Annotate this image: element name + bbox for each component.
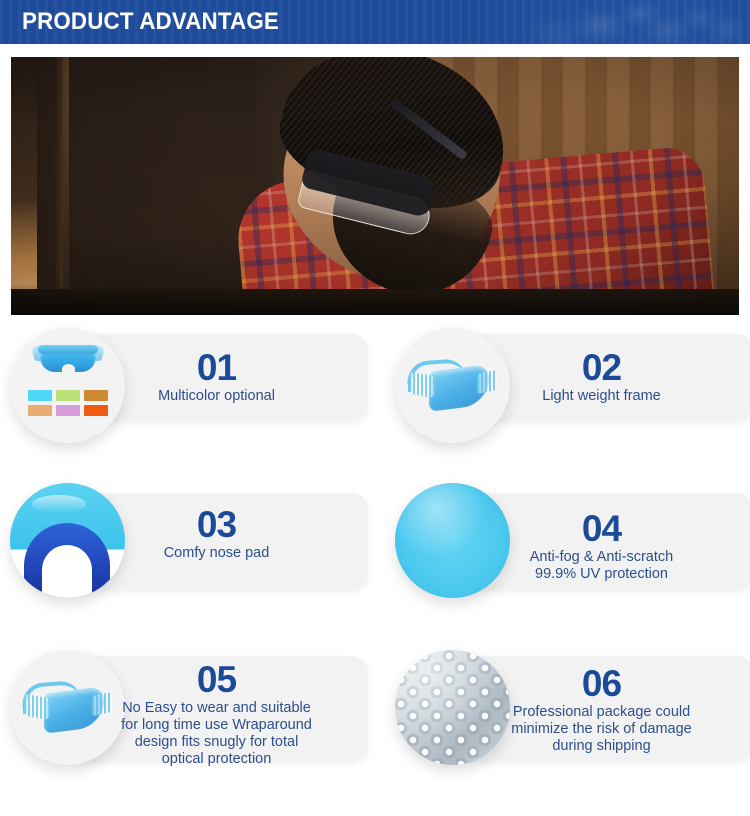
- advantages-grid: 01 Multicolor optional 02 Light weight f…: [0, 320, 750, 798]
- card-text-block: 05 No Easy to wear and suitable for long…: [50, 660, 383, 768]
- hero-image: [11, 57, 739, 315]
- color-swatch: [28, 390, 52, 401]
- advantage-caption: Anti-fog & Anti-scratch 99.9% UV protect…: [450, 549, 750, 583]
- glasses-side-vent: [24, 694, 50, 721]
- advantage-caption: Professional package could minimize the …: [435, 704, 750, 755]
- advantage-number: 04: [450, 509, 750, 549]
- card-text-block: 06 Professional package could minimize t…: [435, 664, 750, 755]
- color-swatch: [56, 405, 80, 416]
- advantage-number: 05: [50, 660, 383, 700]
- color-swatch: [28, 405, 52, 416]
- hero-vignette: [11, 57, 739, 315]
- color-swatch: [84, 405, 108, 416]
- advantage-caption: No Easy to wear and suitable for long ti…: [50, 700, 383, 768]
- advantage-number: 02: [450, 348, 750, 388]
- advantage-number: 03: [65, 505, 368, 545]
- glasses-side-vent: [409, 372, 435, 399]
- advantage-number: 06: [435, 664, 750, 704]
- card-text-block: 01 Multicolor optional: [65, 348, 368, 405]
- card-text-block: 03 Comfy nose pad: [65, 505, 368, 562]
- card-text-block: 04 Anti-fog & Anti-scratch 99.9% UV prot…: [450, 509, 750, 583]
- page-title: PRODUCT ADVANTAGE: [22, 0, 279, 44]
- advantage-caption: Comfy nose pad: [65, 545, 368, 562]
- advantage-caption: Light weight frame: [450, 388, 750, 405]
- advantages-row-1: 01 Multicolor optional 02 Light weight f…: [0, 320, 750, 471]
- advantage-number: 01: [65, 348, 368, 388]
- advantage-caption: Multicolor optional: [65, 388, 368, 405]
- advantages-row-3: 05 No Easy to wear and suitable for long…: [0, 638, 750, 798]
- advantages-row-2: 03 Comfy nose pad 04 Anti-fog & Anti-scr…: [0, 471, 750, 638]
- page-header: PRODUCT ADVANTAGE: [0, 0, 750, 44]
- card-text-block: 02 Light weight frame: [450, 348, 750, 405]
